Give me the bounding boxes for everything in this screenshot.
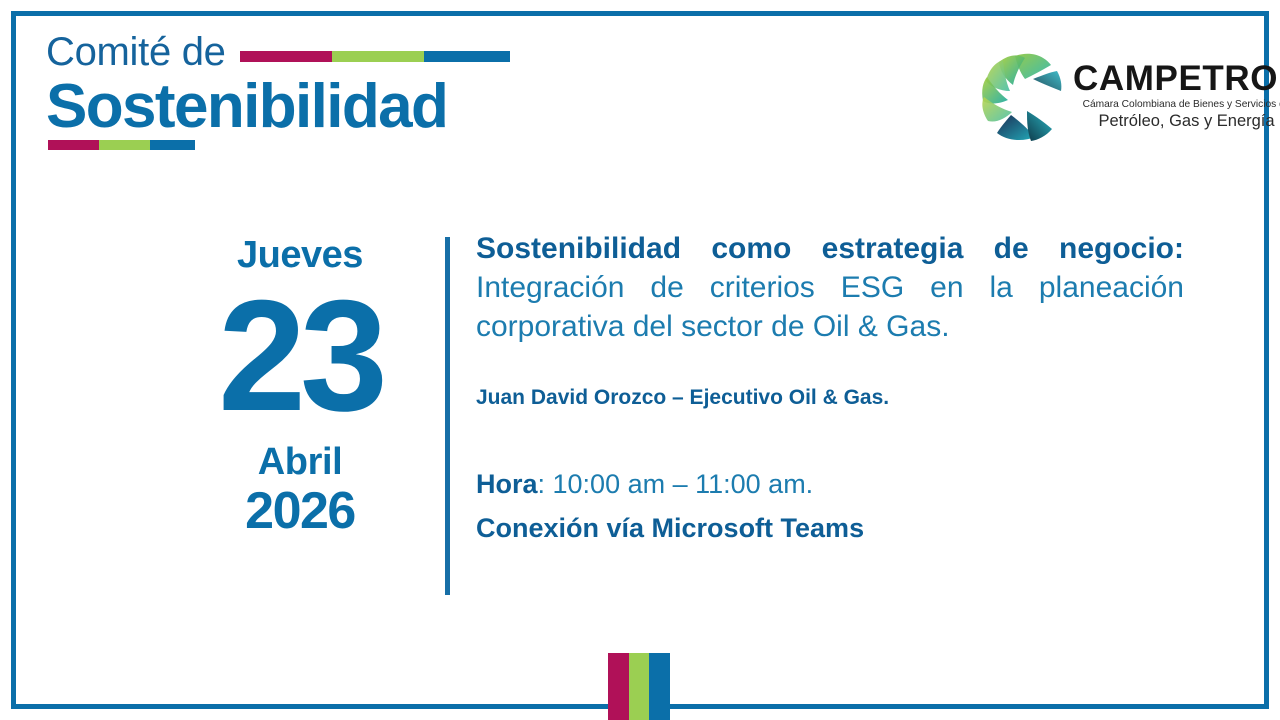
footer-tricolor-tab xyxy=(608,653,670,720)
frame-border-bottom-right xyxy=(670,704,1269,709)
date-month: Abril xyxy=(150,443,450,481)
event-wordmark: Comité de Sostenibilidad xyxy=(46,32,606,139)
header-accent-tricolor-bar xyxy=(240,51,510,62)
bar-segment-green xyxy=(332,51,424,62)
campetrol-tagline-line1: Cámara Colombiana de Bienes y Servicios … xyxy=(1073,99,1280,112)
event-date-block: Jueves 23 Abril 2026 xyxy=(150,236,450,540)
bar-segment-magenta xyxy=(240,51,332,62)
event-time-label: Hora xyxy=(476,469,538,499)
event-speaker: Juan David Orozco – Ejecutivo Oil & Gas. xyxy=(476,384,1184,411)
bar-segment-magenta xyxy=(608,653,629,720)
bar-segment-magenta xyxy=(48,140,99,150)
event-topic: Sostenibilidad como estrategia de negoci… xyxy=(476,229,1184,346)
event-connection: Conexión vía Microsoft Teams xyxy=(476,511,1184,546)
header-underline-tricolor-bar xyxy=(48,140,195,150)
bar-segment-blue xyxy=(150,140,195,150)
frame-border-left xyxy=(11,11,16,709)
event-topic-description: Integración de criterios ESG en la plane… xyxy=(476,271,1184,343)
bar-segment-green xyxy=(629,653,650,720)
slide-canvas: Comité de Sostenibilidad xyxy=(0,0,1280,720)
event-time-value: : 10:00 am – 11:00 am. xyxy=(538,469,814,499)
campetrol-logo: CAMPETROL Cámara Colombiana de Bienes y … xyxy=(975,46,1255,146)
event-time: Hora: 10:00 am – 11:00 am. xyxy=(476,466,1184,502)
frame-border-top xyxy=(11,11,1269,16)
frame-border-bottom-left xyxy=(11,704,608,709)
campetrol-tagline-line2: Petróleo, Gas y Energía xyxy=(1073,112,1280,131)
bar-segment-blue xyxy=(424,51,510,62)
campetrol-name: CAMPETROL xyxy=(1073,61,1280,96)
date-year: 2026 xyxy=(150,483,450,540)
vertical-divider xyxy=(445,237,450,595)
wordmark-line-sostenibilidad: Sostenibilidad xyxy=(46,74,606,139)
event-topic-label: Sostenibilidad como estrategia de negoci… xyxy=(476,232,1184,265)
date-day: 23 xyxy=(150,276,450,437)
bar-segment-blue xyxy=(649,653,670,720)
event-details: Sostenibilidad como estrategia de negoci… xyxy=(476,229,1184,546)
bar-segment-green xyxy=(99,140,150,150)
campetrol-logo-text: CAMPETROL Cámara Colombiana de Bienes y … xyxy=(1073,61,1280,131)
campetrol-c-icon xyxy=(975,49,1067,144)
